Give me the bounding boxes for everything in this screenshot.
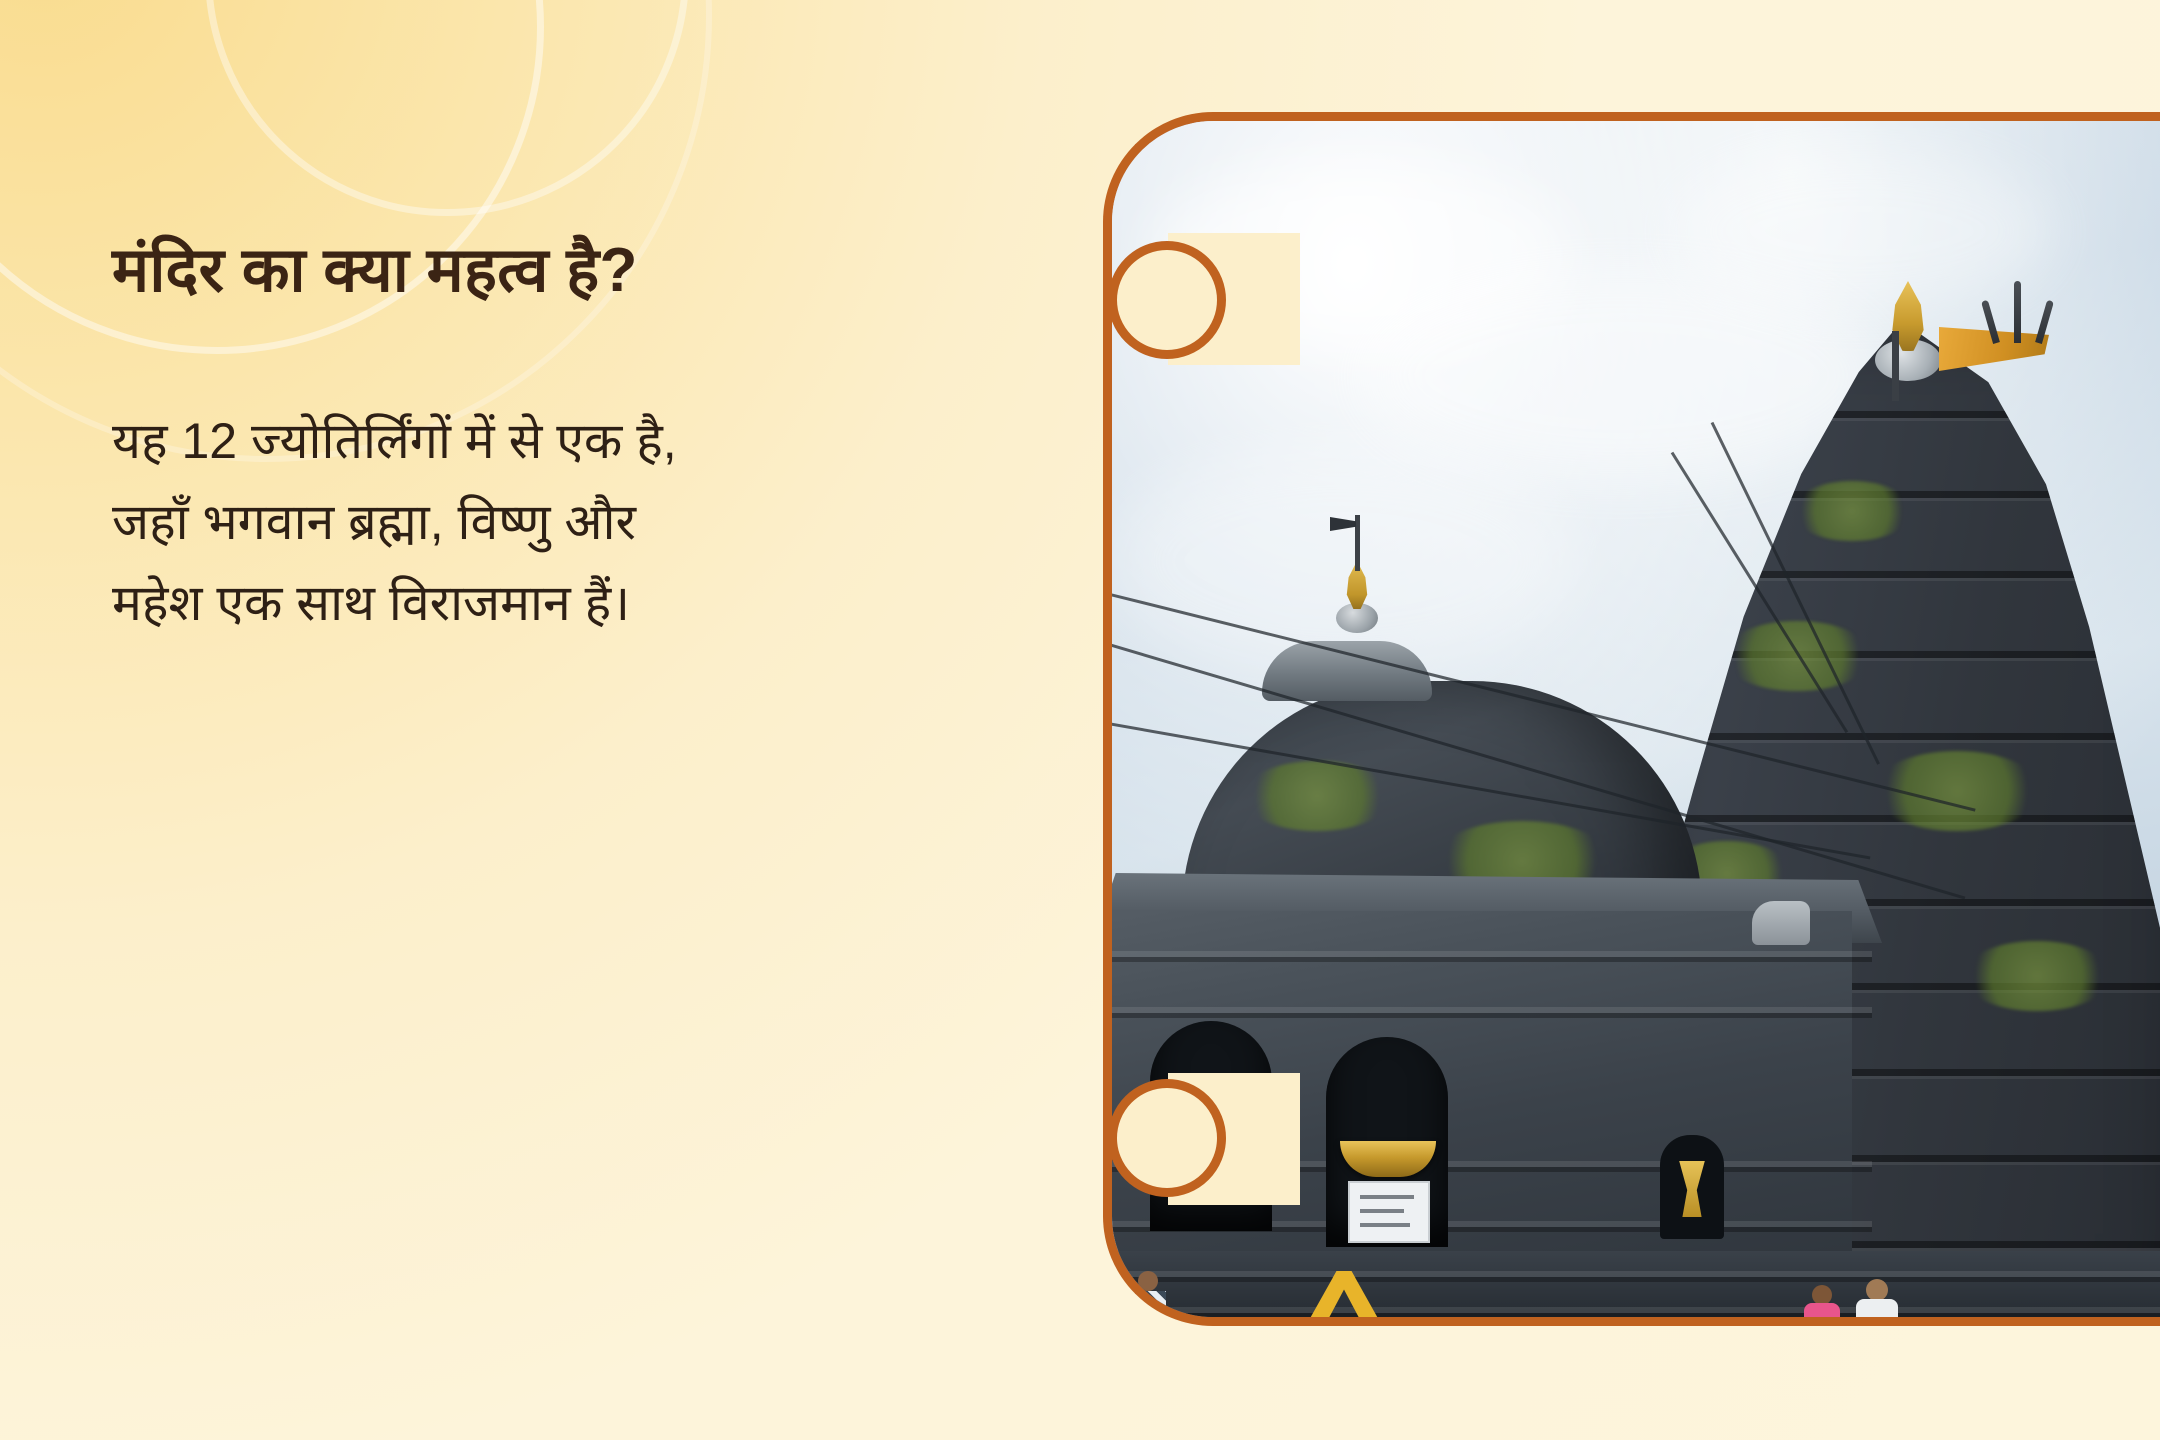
stone-course xyxy=(1112,1271,2160,1277)
cusp-corner-lobe-bottom xyxy=(1108,1079,1226,1197)
visitor xyxy=(1126,1271,1170,1317)
trishul-prong xyxy=(2014,281,2021,343)
page-title: मंदिर का क्या महत्व है? xyxy=(112,236,1012,305)
sign-line xyxy=(1360,1195,1414,1199)
trishul-staff xyxy=(1892,331,1899,401)
body-copy: यह 12 ज्योतिर्लिंगों में से एक है, जहाँ … xyxy=(112,401,1012,644)
lion-statue xyxy=(1752,901,1810,945)
visitor-head xyxy=(1866,1279,1888,1301)
visitor-head xyxy=(1812,1285,1832,1305)
main-finial-group xyxy=(1867,271,2067,401)
moss-patch xyxy=(1962,941,2112,1011)
visitor-head xyxy=(1138,1271,1158,1291)
wall-niche xyxy=(1660,1135,1724,1239)
visitor-body xyxy=(1856,1299,1898,1317)
visitor xyxy=(1854,1279,1900,1317)
body-line-2: जहाँ भगवान ब्रह्मा, विष्णु और xyxy=(112,482,1012,563)
visitor xyxy=(1802,1285,1842,1317)
stone-course xyxy=(1112,1307,2160,1313)
info-card: मंदिर का क्या महत्व है? यह 12 ज्योतिर्लि… xyxy=(0,0,2160,1440)
cusp-corner-lobe-top xyxy=(1108,241,1226,359)
trishul-icon xyxy=(1989,271,2047,343)
temple-plinth xyxy=(1112,1251,2160,1317)
temple-photo-frame xyxy=(1103,112,2160,1326)
notice-board xyxy=(1348,1181,1430,1243)
moss-patch xyxy=(1242,761,1392,831)
sign-line xyxy=(1360,1223,1410,1227)
stone-course xyxy=(1112,951,1872,957)
sign-line xyxy=(1360,1209,1404,1213)
body-line-3: महेश एक साथ विराजमान हैं। xyxy=(112,563,1012,644)
golden-ornament xyxy=(1672,1161,1712,1217)
trishul-prong xyxy=(2035,300,2054,344)
visitor-body xyxy=(1804,1303,1840,1317)
stone-course xyxy=(1112,1007,1872,1013)
text-column: मंदिर का क्या महत्व है? यह 12 ज्योतिर्लि… xyxy=(112,236,1012,644)
decorative-circle-outline-medium xyxy=(205,0,689,216)
body-line-1: यह 12 ज्योतिर्लिंगों में से एक है, xyxy=(112,401,1012,482)
secondary-finial-group xyxy=(1328,561,1388,653)
visitor-body xyxy=(1130,1291,1166,1317)
moss-patch xyxy=(1792,481,1912,541)
